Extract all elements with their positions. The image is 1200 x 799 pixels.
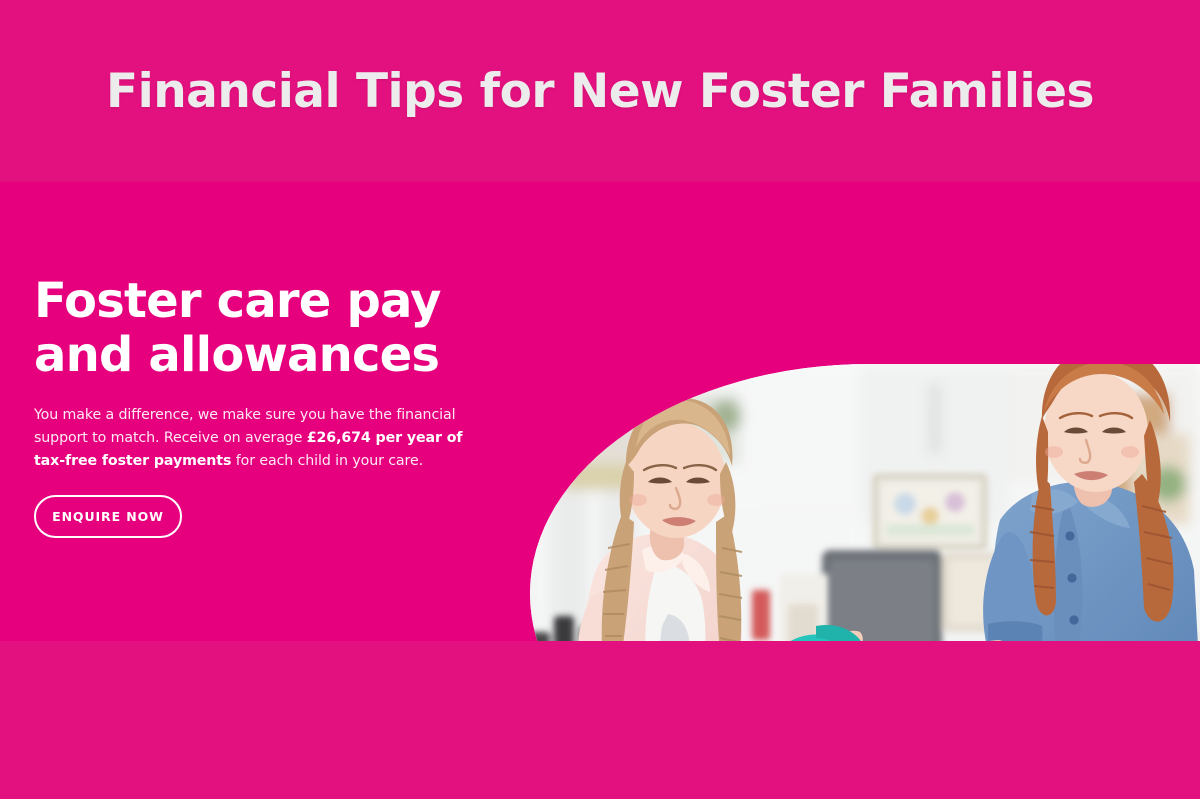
hero-photo <box>530 364 1200 641</box>
page-title: Financial Tips for New Foster Families <box>106 68 1094 115</box>
hero-heading: Foster care pay and allowances <box>34 274 504 382</box>
top-banner: Financial Tips for New Foster Families <box>0 0 1200 182</box>
hero-heading-line-1: Foster care pay <box>34 273 441 329</box>
page-root: Financial Tips for New Foster Families F… <box>0 0 1200 799</box>
hero-paragraph-part-2: for each child in your care. <box>231 453 423 469</box>
hero-band: Foster care pay and allowances You make … <box>0 182 1200 641</box>
hero-photo-illustration <box>530 364 1200 641</box>
bottom-band <box>0 641 1200 799</box>
hero-paragraph: You make a difference, we make sure you … <box>34 404 486 473</box>
hero-copy-column: Foster care pay and allowances You make … <box>34 274 504 538</box>
hero-heading-line-2: and allowances <box>34 328 504 382</box>
enquire-now-button[interactable]: ENQUIRE NOW <box>34 495 182 538</box>
